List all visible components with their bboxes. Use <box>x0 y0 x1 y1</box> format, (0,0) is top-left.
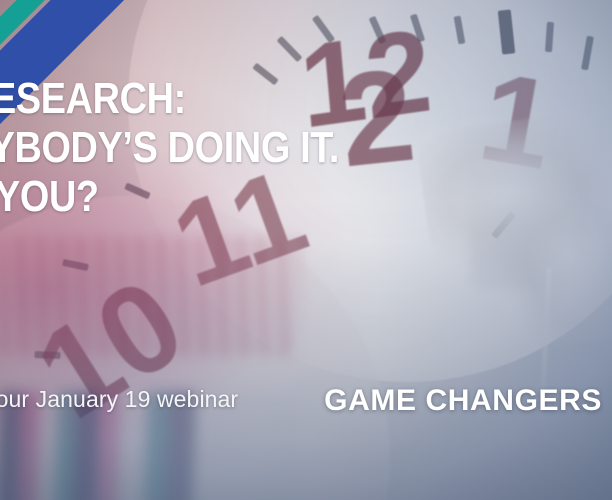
webinar-promo-banner: 12 2 1 11 10 RESEARCH: RYBODY’S DOING IT… <box>0 0 612 500</box>
headline-line-2: RYBODY’S DOING IT. <box>0 123 339 172</box>
headline-line-3: YOU? <box>0 172 339 221</box>
headline: RESEARCH: RYBODY’S DOING IT. YOU? <box>0 74 339 221</box>
headline-line-1: RESEARCH: <box>0 74 339 123</box>
game-changers-logo: GAME CHANGERS <box>324 384 602 418</box>
subhead-text: for our January 19 webinar <box>0 386 238 413</box>
